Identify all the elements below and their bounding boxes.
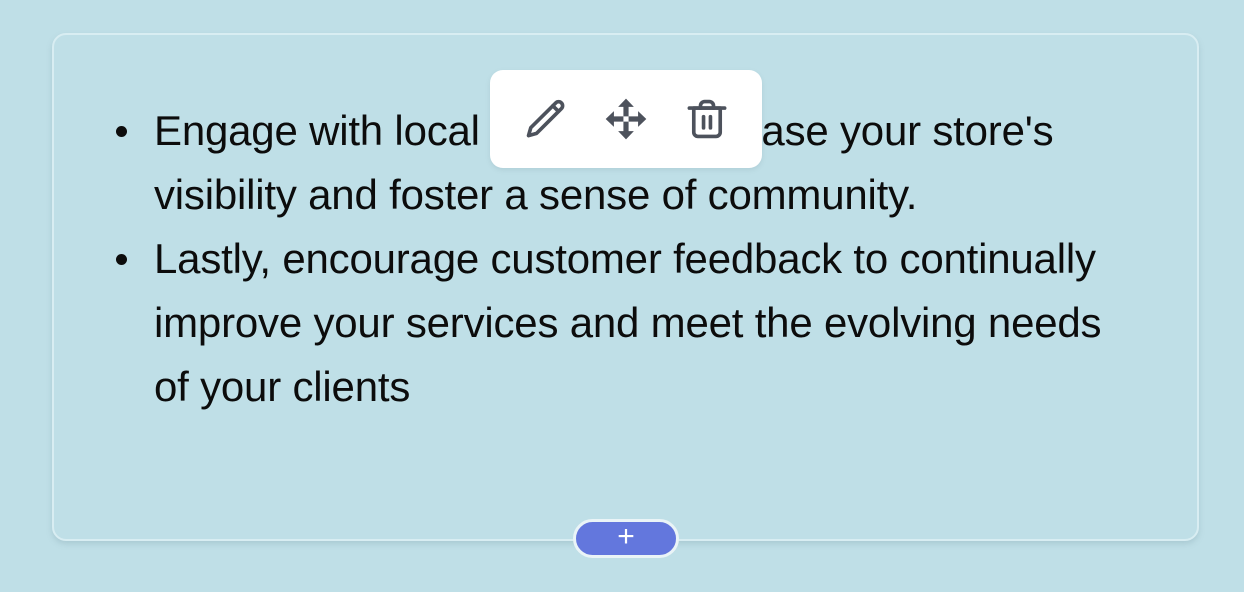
trash-icon: [684, 96, 730, 142]
element-action-toolbar: [490, 70, 762, 168]
list-item-text: Lastly, encourage customer feedback to c…: [154, 227, 1129, 419]
move-button[interactable]: [595, 88, 657, 150]
delete-button[interactable]: [676, 88, 738, 150]
list-item: Lastly, encourage customer feedback to c…: [106, 227, 1167, 419]
plus-icon: +: [617, 522, 635, 552]
add-block-button[interactable]: +: [573, 519, 679, 558]
edit-button[interactable]: [514, 88, 576, 150]
bullet-dot-icon: [116, 126, 127, 137]
move-arrows-icon: [603, 96, 649, 142]
bullet-dot-icon: [116, 254, 127, 265]
pencil-icon: [522, 96, 568, 142]
